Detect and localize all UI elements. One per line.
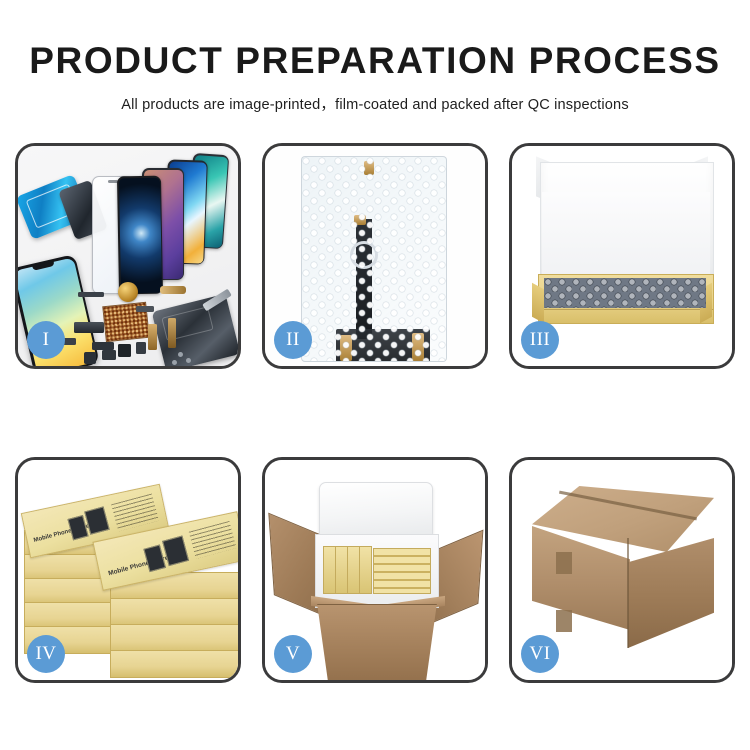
styrofoam-lid: [319, 482, 433, 540]
phone-back-cover: [152, 294, 238, 366]
label-window-3: [143, 545, 166, 573]
bubble-wrap-bag: [301, 156, 447, 362]
process-step-grid: I II: [15, 143, 736, 676]
label-window-2: [84, 506, 110, 534]
step-badge-6: VI: [521, 635, 559, 673]
part-camera: [136, 342, 146, 354]
process-step-4: Mobile Phone Spare Parts Mobile Phone Sp…: [15, 457, 241, 683]
part-shield: [102, 350, 116, 360]
step-badge-5: V: [274, 635, 312, 673]
product-preparation-infographic: PRODUCT PREPARATION PROCESS All products…: [0, 0, 750, 750]
phone-2: [117, 176, 163, 295]
bubble-texture: [302, 157, 446, 361]
label-text-lines-front: [189, 521, 237, 559]
stacked-box-front-4: [110, 650, 238, 678]
carton-tape-upper: [556, 552, 572, 574]
screw-2: [186, 358, 191, 363]
box-corner-left: [532, 283, 544, 323]
part-ribbon: [78, 292, 104, 297]
header: PRODUCT PREPARATION PROCESS All products…: [0, 0, 750, 114]
speaker-component: [118, 282, 138, 302]
part-button: [118, 344, 131, 357]
carton-right-face: [628, 538, 714, 648]
process-step-5: V: [262, 457, 488, 683]
part-flex-cable: [168, 318, 176, 348]
process-step-2: II: [262, 143, 488, 369]
process-step-6: VI: [509, 457, 735, 683]
process-step-3: III: [509, 143, 735, 369]
carton-tape-lower: [556, 610, 572, 632]
carton-body: [309, 604, 445, 680]
screw-1: [178, 352, 183, 357]
inner-box-4: [359, 546, 372, 594]
foam-sheet: [542, 192, 710, 276]
part-flex-gold: [148, 324, 157, 350]
screw-3: [172, 360, 177, 365]
page-subtitle: All products are image-printed，film-coat…: [0, 93, 750, 114]
label-text-lines-rear: [111, 494, 159, 532]
inner-box-horizontal-stack: [373, 548, 431, 594]
step-badge-3: III: [521, 321, 559, 359]
step-badge-1: I: [27, 321, 65, 359]
page-title: PRODUCT PREPARATION PROCESS: [0, 42, 750, 79]
part-connector: [160, 286, 186, 294]
carton-left-face: [532, 526, 630, 630]
step-badge-4: IV: [27, 635, 65, 673]
carton-front-edge: [627, 538, 629, 648]
part-chip: [84, 352, 96, 364]
part-strip: [136, 306, 154, 312]
step-badge-2: II: [274, 321, 312, 359]
part-module: [74, 322, 104, 333]
process-step-1: I: [15, 143, 241, 369]
dark-bubble-wrap-fill: [544, 278, 706, 308]
part-bracket: [92, 342, 114, 350]
